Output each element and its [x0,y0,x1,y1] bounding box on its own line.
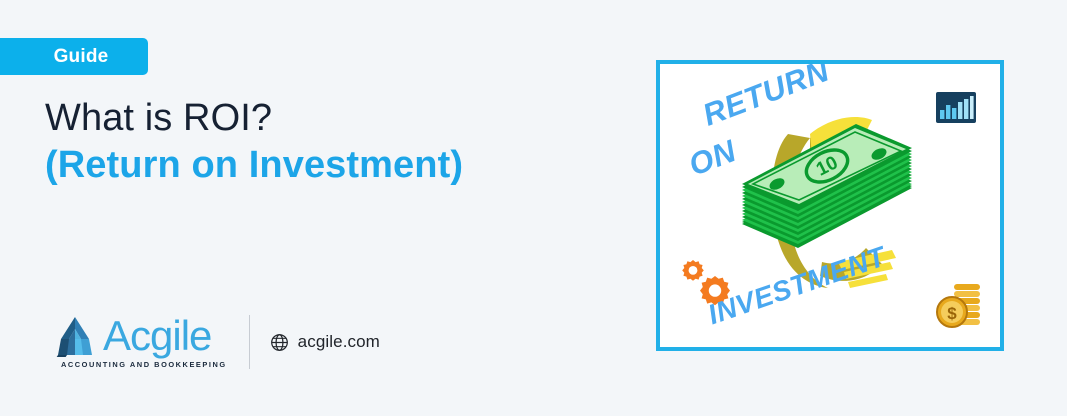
guide-banner: Guide What is ROI? (Return on Investment… [0,0,1067,416]
globe-icon [270,333,289,352]
guide-badge-label: Guide [54,46,109,68]
title-line-secondary: (Return on Investment) [45,141,463,190]
brand-row: Acgile ACCOUNTING AND BOOKKEEPING acgile… [45,306,380,378]
guide-badge: Guide [0,38,148,75]
acgile-logo-wordmark: Acgile [103,315,211,357]
brand-divider [249,315,250,369]
svg-text:$: $ [947,304,957,323]
bar-chart-icon [936,92,976,123]
website-url: acgile.com [298,332,380,352]
logo-top: Acgile [45,315,211,357]
title-line-primary: What is ROI? [45,96,463,141]
website-link[interactable]: acgile.com [270,332,380,352]
banknote-stack: 10 [742,124,912,248]
coins-icon: $ [937,284,980,327]
page-title: What is ROI? (Return on Investment) [45,96,463,190]
acgile-logo-mark [45,315,105,357]
roi-illustration: 10 [656,60,1004,351]
acgile-logo[interactable]: Acgile ACCOUNTING AND BOOKKEEPING [45,315,227,369]
acgile-logo-tagline: ACCOUNTING AND BOOKKEEPING [61,360,227,369]
